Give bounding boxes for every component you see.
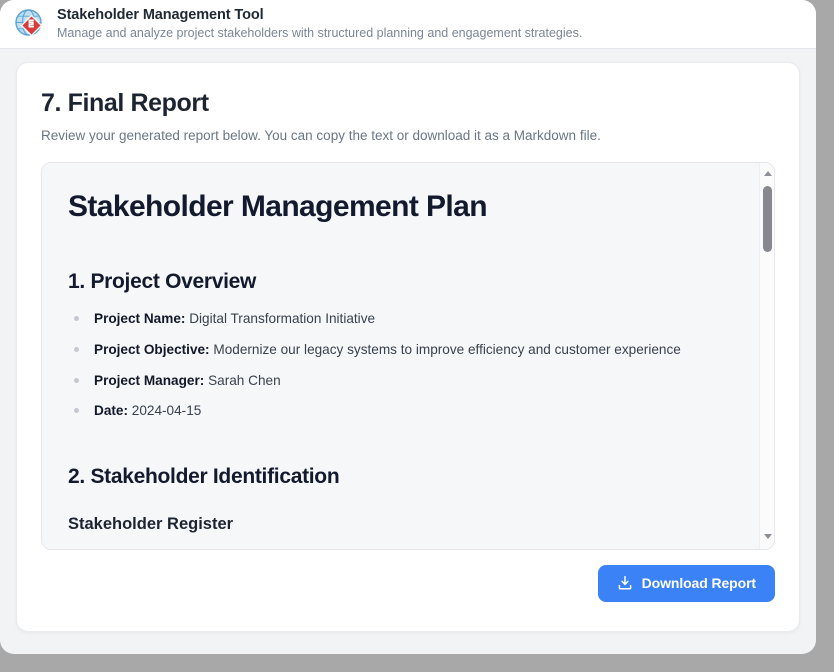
page-description: Review your generated report below. You …	[41, 127, 775, 145]
report-heading: Stakeholder Management Plan	[68, 189, 735, 225]
list-item-label: Project Manager:	[94, 373, 204, 388]
download-report-button[interactable]: Download Report	[598, 565, 775, 602]
list-item-label: Project Objective:	[94, 342, 210, 357]
list-item-value: 2024-04-15	[132, 403, 202, 418]
app-window: Stakeholder Management Tool Manage and a…	[0, 0, 816, 654]
report-scrollbar[interactable]	[759, 163, 774, 549]
final-report-card: 7. Final Report Review your generated re…	[16, 62, 800, 632]
report-preview-panel[interactable]: Stakeholder Management Plan 1. Project O…	[41, 162, 775, 550]
report-content: Stakeholder Management Plan 1. Project O…	[42, 163, 759, 549]
app-subtitle: Manage and analyze project stakeholders …	[57, 26, 582, 41]
list-item-label: Date:	[94, 403, 128, 418]
list-item: Project Manager: Sarah Chen	[68, 372, 735, 390]
list-item: Project Objective: Modernize our legacy …	[68, 341, 735, 359]
list-item-value: Digital Transformation Initiative	[189, 311, 375, 326]
project-overview-list: Project Name: Digital Transformation Ini…	[68, 310, 735, 420]
scrollbar-thumb[interactable]	[763, 186, 772, 252]
page-title: 7. Final Report	[41, 89, 775, 118]
scroll-down-arrow-icon[interactable]	[760, 529, 775, 544]
report-section-2-heading: 2. Stakeholder Identification	[68, 464, 735, 489]
download-icon	[617, 575, 633, 591]
card-footer: Download Report	[41, 565, 775, 602]
list-item-value: Sarah Chen	[208, 373, 281, 388]
scroll-up-arrow-icon[interactable]	[760, 166, 775, 181]
app-title: Stakeholder Management Tool	[57, 7, 582, 24]
download-report-label: Download Report	[642, 575, 756, 591]
list-item-value: Modernize our legacy systems to improve …	[213, 342, 680, 357]
list-item-label: Project Name:	[94, 311, 185, 326]
app-header-text: Stakeholder Management Tool Manage and a…	[57, 7, 582, 41]
globe-shield-logo-icon	[14, 8, 46, 40]
chevron-down-icon	[764, 534, 772, 539]
list-item: Project Name: Digital Transformation Ini…	[68, 310, 735, 328]
chevron-up-icon	[764, 171, 772, 176]
report-subsection-heading: Stakeholder Register	[68, 515, 735, 535]
list-item: Date: 2024-04-15	[68, 402, 735, 420]
app-header: Stakeholder Management Tool Manage and a…	[0, 0, 816, 49]
report-section-1-heading: 1. Project Overview	[68, 269, 735, 294]
